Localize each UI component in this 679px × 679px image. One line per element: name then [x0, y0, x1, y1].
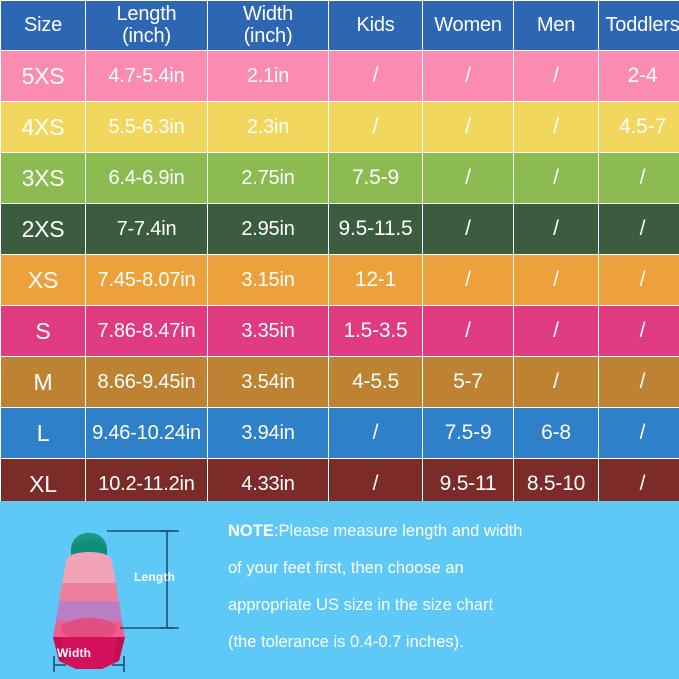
cell-toddlers: 2-4 — [599, 51, 679, 101]
cell-toddlers: / — [599, 153, 679, 203]
cell-width: 3.54in — [208, 357, 328, 407]
table-row: 4XS 5.5-6.3in 2.3in / / / 4.5-7 — [1, 102, 679, 152]
cell-size: 3XS — [1, 153, 85, 203]
note-line-3: appropriate US size in the size chart — [228, 587, 668, 624]
table-row: XS 7.45-8.07in 3.15in 12-1 / / / — [1, 255, 679, 305]
cell-width: 3.94in — [208, 408, 328, 458]
cell-kids: 1.5-3.5 — [329, 306, 422, 356]
note-label: NOTE — [228, 522, 274, 540]
cell-women: / — [423, 255, 513, 305]
cell-length: 9.46-10.24in — [86, 408, 207, 458]
cell-men: / — [514, 306, 598, 356]
cell-men: / — [514, 255, 598, 305]
cell-length: 7.86-8.47in — [86, 306, 207, 356]
cell-women: 5-7 — [423, 357, 513, 407]
header-row: Size Length (inch) Width (inch) Kids Wom… — [1, 1, 679, 50]
header-label-women: Women — [434, 14, 502, 36]
column-header-kids: Kids — [329, 1, 422, 50]
cell-kids: 4-5.5 — [329, 357, 422, 407]
cell-size: 4XS — [1, 102, 85, 152]
fin-diagram: Length Width — [24, 509, 224, 674]
column-header-men: Men — [514, 1, 598, 50]
cell-width: 2.75in — [208, 153, 328, 203]
cell-toddlers: / — [599, 306, 679, 356]
table-row: 3XS 6.4-6.9in 2.75in 7.5-9 / / / — [1, 153, 679, 203]
note-line-2: of your feet first, then choose an — [228, 550, 668, 587]
fin-strap-opening — [61, 618, 117, 640]
cell-width: 3.35in — [208, 306, 328, 356]
cell-men: 6-8 — [514, 408, 598, 458]
cell-kids: 7.5-9 — [329, 153, 422, 203]
cell-men: / — [514, 357, 598, 407]
cell-width: 2.95in — [208, 204, 328, 254]
cell-men: / — [514, 204, 598, 254]
cell-width: 2.3in — [208, 102, 328, 152]
note-line-1: NOTE:Please measure length and width — [228, 513, 668, 550]
cell-size: L — [1, 408, 85, 458]
table-row: 2XS 7-7.4in 2.95in 9.5-11.5 / / / — [1, 204, 679, 254]
cell-width: 2.1in — [208, 51, 328, 101]
cell-women: / — [423, 51, 513, 101]
cell-width: 3.15in — [208, 255, 328, 305]
table-header: Size Length (inch) Width (inch) Kids Wom… — [1, 1, 679, 50]
note-panel: Length Width NOTE:Please measure length … — [0, 501, 679, 679]
cell-length: 6.4-6.9in — [86, 153, 207, 203]
note-line-4: (the tolerance is 0.4-0.7 inches). — [228, 624, 668, 661]
header-label-kids: Kids — [356, 14, 394, 36]
column-header-toddlers: Toddlers — [599, 1, 679, 50]
header-sublabel-length: (inch) — [86, 26, 207, 48]
cell-men: / — [514, 51, 598, 101]
cell-size: 5XS — [1, 51, 85, 101]
cell-kids: 9.5-11.5 — [329, 204, 422, 254]
column-header-size: Size — [1, 1, 85, 50]
cell-toddlers: / — [599, 357, 679, 407]
size-chart-table: Size Length (inch) Width (inch) Kids Wom… — [0, 0, 679, 510]
header-label-size: Size — [24, 14, 62, 36]
header-label-width: Width — [243, 3, 293, 25]
cell-toddlers: 4.5-7 — [599, 102, 679, 152]
column-header-women: Women — [423, 1, 513, 50]
cell-size: XS — [1, 255, 85, 305]
width-dimension-label: Width — [57, 646, 91, 660]
cell-men: / — [514, 153, 598, 203]
cell-women: / — [423, 306, 513, 356]
cell-kids: 12-1 — [329, 255, 422, 305]
note-line-1-text: Please measure length and width — [278, 522, 522, 540]
swim-fin-illustration — [24, 509, 224, 674]
cell-women: / — [423, 204, 513, 254]
table-row: L 9.46-10.24in 3.94in / 7.5-9 6-8 / — [1, 408, 679, 458]
table-body: 5XS 4.7-5.4in 2.1in / / / 2-4 4XS 5.5-6.… — [1, 51, 679, 509]
column-header-width: Width (inch) — [208, 1, 328, 50]
header-label-toddlers: Toddlers — [606, 14, 679, 36]
fin-band-pink — [59, 583, 119, 601]
length-dimension-label: Length — [134, 570, 175, 584]
cell-men: / — [514, 102, 598, 152]
header-label-length: Length — [117, 3, 177, 25]
cell-length: 4.7-5.4in — [86, 51, 207, 101]
size-chart-page: Size Length (inch) Width (inch) Kids Wom… — [0, 0, 679, 679]
fin-band-lightpink — [62, 552, 116, 583]
cell-size: 2XS — [1, 204, 85, 254]
cell-toddlers: / — [599, 408, 679, 458]
column-header-length: Length (inch) — [86, 1, 207, 50]
cell-kids: / — [329, 102, 422, 152]
cell-length: 8.66-9.45in — [86, 357, 207, 407]
table-row: 5XS 4.7-5.4in 2.1in / / / 2-4 — [1, 51, 679, 101]
cell-length: 5.5-6.3in — [86, 102, 207, 152]
cell-kids: / — [329, 51, 422, 101]
cell-women: 7.5-9 — [423, 408, 513, 458]
cell-length: 7.45-8.07in — [86, 255, 207, 305]
cell-women: / — [423, 153, 513, 203]
cell-toddlers: / — [599, 255, 679, 305]
cell-size: M — [1, 357, 85, 407]
table-row: S 7.86-8.47in 3.35in 1.5-3.5 / / / — [1, 306, 679, 356]
cell-length: 7-7.4in — [86, 204, 207, 254]
cell-kids: / — [329, 408, 422, 458]
cell-women: / — [423, 102, 513, 152]
table-row: M 8.66-9.45in 3.54in 4-5.5 5-7 / / — [1, 357, 679, 407]
cell-toddlers: / — [599, 204, 679, 254]
header-label-men: Men — [537, 14, 575, 36]
note-text: NOTE:Please measure length and width of … — [228, 513, 668, 662]
header-sublabel-width: (inch) — [208, 26, 328, 48]
cell-size: S — [1, 306, 85, 356]
